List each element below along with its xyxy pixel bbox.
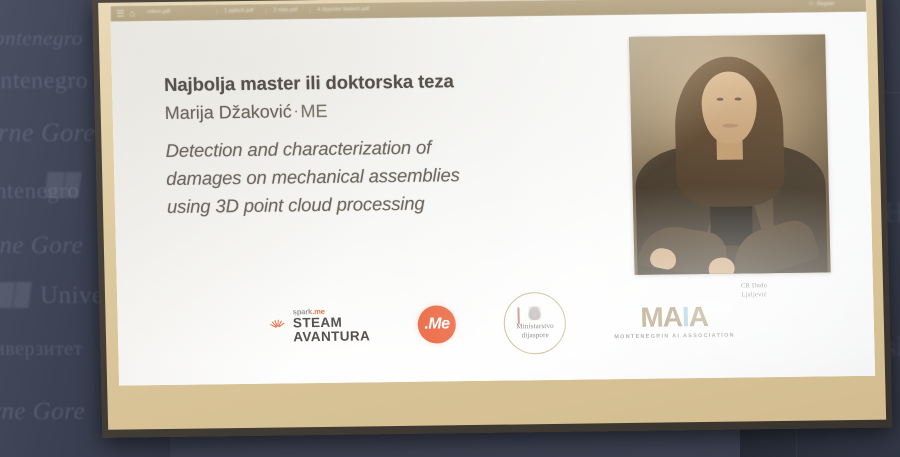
author-name: Marija Džaković [164, 102, 291, 124]
author-separator: · [292, 102, 301, 118]
logo-dot-me: .Me [418, 305, 457, 343]
steam-avantura-wordmark: spark.me STEAM AVANTURA [293, 308, 371, 344]
logo-ministry-of-diaspora: Ministarstvo dijaspore [503, 292, 566, 355]
slide-author-line: Marija Džaković·ME [164, 98, 564, 125]
open-book-icon [0, 282, 32, 308]
wall-branding-text: Montenegro [0, 178, 79, 204]
projected-pdf-viewer: ☰ ⌂ rollem.pdf 1 pptech.pdf 2 robo.pdf 4… [110, 0, 875, 386]
spark-burst-icon [267, 315, 290, 337]
portrait-warm-tone-overlay [629, 34, 831, 274]
ministry-wordmark: Ministarstvo dijaspore [516, 322, 554, 340]
sponsor-logo-row: spark.me STEAM AVANTURA .Me Ministarstvo [117, 288, 874, 360]
subtitle-line-3: using 3D point cloud processing [167, 188, 568, 221]
presentation-slide: Najbolja master ili doktorska teza Marij… [111, 12, 876, 386]
wall-branding-text: Montenegro [0, 68, 88, 95]
tab-document-2[interactable]: 1 pptech.pdf [216, 9, 260, 15]
speaker-portrait-photo [629, 34, 831, 274]
maia-letter-a2: A [688, 301, 708, 332]
tab-document-1[interactable]: rollem.pdf [140, 10, 177, 16]
slide-heading: Najbolja master ili doktorska teza [164, 68, 565, 96]
slide-text-block: Najbolja master ili doktorska teza Marij… [164, 68, 567, 221]
wall-branding-text: Montenegro [0, 26, 83, 51]
logo-maia: MAIA MONTENEGRIN AI ASSOCIATION [614, 302, 735, 340]
logo-steam-avantura: spark.me STEAM AVANTURA [267, 308, 371, 344]
author-country: ME [300, 101, 327, 121]
ministry-accent-bar [518, 307, 520, 324]
maia-letter-a1: A [662, 301, 682, 332]
wall-branding-text: Crne Gore [0, 232, 83, 260]
star-icon[interactable]: ☆ [808, 1, 814, 8]
wall-branding-text: Crne Gore [0, 398, 85, 426]
conference-room-scene: Montenegro Montenegro Crne Gore Monteneg… [0, 0, 900, 457]
wall-branding-text: Crne Gore [0, 118, 95, 148]
tab-document-3[interactable]: 2 robo.pdf [265, 9, 304, 15]
toolbar-right-label: Registri [817, 1, 834, 7]
ministry-line-2: dijaspore [516, 331, 554, 340]
steam-line-2: AVANTURA [293, 329, 370, 344]
tab-document-4[interactable]: 4 skyooler biotech.pdf [309, 8, 376, 14]
maia-wordmark: MAIA [614, 302, 735, 332]
hamburger-menu-icon[interactable]: ☰ [116, 9, 124, 18]
projection-screen: ☰ ⌂ rollem.pdf 1 pptech.pdf 2 robo.pdf 4… [92, 0, 892, 438]
montenegro-coat-of-arms-icon [527, 306, 543, 320]
maia-letter-m: M [640, 301, 663, 332]
wall-branding-text: Универзитет [0, 338, 83, 361]
maia-tagline: MONTENEGRIN AI ASSOCIATION [614, 333, 735, 340]
slide-subtitle: Detection and characterization of damage… [165, 132, 567, 222]
toolbar-right-group[interactable]: ☆ Registri [808, 1, 860, 8]
home-icon[interactable]: ⌂ [129, 9, 135, 18]
